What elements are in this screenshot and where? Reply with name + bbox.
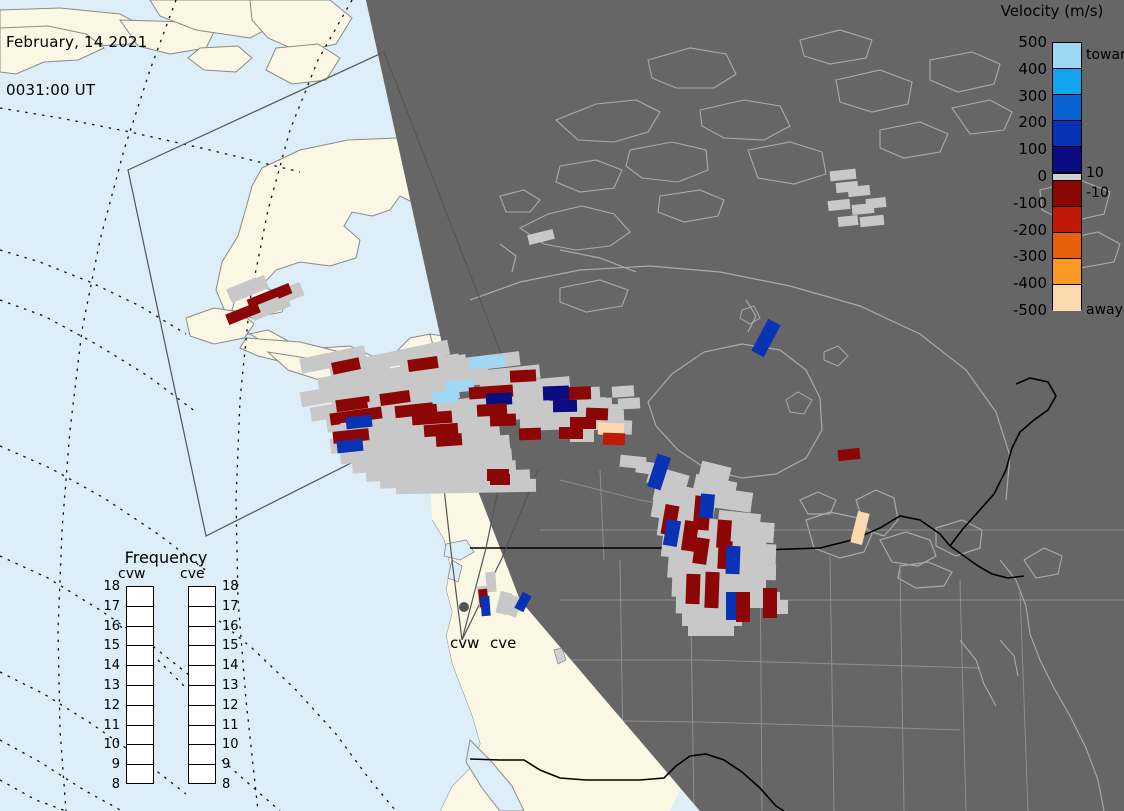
colorbar-tick-100: 100 bbox=[1018, 142, 1047, 157]
colorbar-tick--400: -400 bbox=[1013, 276, 1047, 291]
time-label: 0031:00 UT bbox=[6, 82, 147, 98]
frequency-tick-cve-15: 15 bbox=[222, 639, 244, 652]
colorbar-band-2 bbox=[1053, 95, 1081, 121]
frequency-tick-cvw-16: 16 bbox=[98, 620, 120, 633]
frequency-gauge-cell bbox=[189, 686, 215, 706]
site-label-cve: cve bbox=[490, 634, 516, 652]
frequency-tick-cvw-8: 8 bbox=[98, 778, 120, 791]
frequency-gauge-cell bbox=[189, 765, 215, 785]
frequency-tick-cve-18: 18 bbox=[222, 580, 244, 593]
velocity-cell bbox=[837, 448, 860, 461]
velocity-colorbar bbox=[1052, 42, 1082, 310]
velocity-cell bbox=[480, 596, 490, 617]
frequency-tick-cve-12: 12 bbox=[222, 699, 244, 712]
velocity-cell bbox=[543, 386, 569, 401]
frequency-gauge-cell bbox=[127, 745, 153, 765]
colorbar-tick-200: 200 bbox=[1018, 115, 1047, 130]
velocity-cell bbox=[586, 408, 608, 421]
colorbar-gs-upper-label: 10 bbox=[1086, 166, 1104, 180]
frequency-tick-cvw-13: 13 bbox=[98, 679, 120, 692]
velocity-cell bbox=[699, 493, 715, 518]
velocity-cell bbox=[553, 400, 577, 412]
velocity-cell bbox=[469, 355, 506, 369]
frequency-gauge-cell bbox=[127, 607, 153, 627]
velocity-cell bbox=[436, 433, 463, 447]
frequency-tick-cvw-11: 11 bbox=[98, 719, 120, 732]
frequency-tick-cve-9: 9 bbox=[222, 758, 244, 771]
velocity-cell bbox=[490, 414, 516, 427]
frequency-gauge-name-cve: cve bbox=[180, 566, 205, 582]
colorbar-band-3 bbox=[1053, 121, 1081, 147]
colorbar-band-9 bbox=[1053, 259, 1081, 285]
velocity-cell bbox=[763, 588, 777, 618]
frequency-gauge-cell bbox=[127, 666, 153, 686]
frequency-gauge-cell bbox=[127, 646, 153, 666]
colorbar-tick--200: -200 bbox=[1013, 223, 1047, 238]
frequency-gauge-cell bbox=[189, 745, 215, 765]
colorbar-band-7 bbox=[1053, 207, 1081, 233]
frequency-gauge-name-cvw: cvw bbox=[118, 566, 145, 582]
frequency-gauge-cell bbox=[127, 686, 153, 706]
colorbar-tick-300: 300 bbox=[1018, 89, 1047, 104]
frequency-gauge-cell bbox=[127, 706, 153, 726]
frequency-gauge-cell bbox=[189, 666, 215, 686]
frequency-gauge-cell bbox=[127, 587, 153, 607]
frequency-gauge-cell bbox=[189, 627, 215, 647]
ground-scatter-cell bbox=[838, 215, 859, 227]
ground-scatter-cell bbox=[612, 385, 635, 398]
colorbar-tick--100: -100 bbox=[1013, 196, 1047, 211]
colorbar-tick-400: 400 bbox=[1018, 62, 1047, 77]
frequency-tick-cvw-12: 12 bbox=[98, 699, 120, 712]
velocity-cell bbox=[603, 433, 625, 446]
frequency-tick-cve-17: 17 bbox=[222, 600, 244, 613]
frequency-gauge-cell bbox=[189, 706, 215, 726]
colorbar-band-6 bbox=[1053, 181, 1081, 207]
colorbar-toward-label: toward bbox=[1086, 48, 1124, 62]
velocity-cell bbox=[685, 574, 700, 604]
colorbar-tick--300: -300 bbox=[1013, 249, 1047, 264]
velocity-cell bbox=[704, 572, 719, 608]
frequency-tick-cve-13: 13 bbox=[222, 679, 244, 692]
velocity-cell bbox=[519, 428, 541, 441]
frequency-gauge-cve bbox=[188, 586, 216, 784]
frequency-gauge-cell bbox=[189, 587, 215, 607]
velocity-cell bbox=[726, 546, 741, 574]
frequency-gauge-cell bbox=[189, 607, 215, 627]
colorbar-band-5 bbox=[1053, 173, 1081, 181]
superdarn-map-view: February, 14 2021 0031:00 UT Velocity (m… bbox=[0, 0, 1124, 811]
timestamp-block: February, 14 2021 0031:00 UT bbox=[6, 2, 147, 130]
colorbar-tick-0: 0 bbox=[1037, 169, 1047, 184]
velocity-cell bbox=[510, 369, 537, 382]
colorbar-band-8 bbox=[1053, 233, 1081, 259]
frequency-tick-cvw-9: 9 bbox=[98, 758, 120, 771]
colorbar-gs-lower-label: -10 bbox=[1086, 186, 1109, 200]
colorbar-tick--500: -500 bbox=[1013, 303, 1047, 318]
frequency-tick-cvw-17: 17 bbox=[98, 600, 120, 613]
velocity-cell bbox=[432, 390, 459, 404]
frequency-tick-cve-14: 14 bbox=[222, 659, 244, 672]
colorbar-band-0 bbox=[1053, 43, 1081, 69]
frequency-tick-cvw-15: 15 bbox=[98, 639, 120, 652]
frequency-gauge-cell bbox=[189, 726, 215, 746]
frequency-tick-cve-16: 16 bbox=[222, 620, 244, 633]
colorbar-side-labels: toward10-10away bbox=[1086, 0, 1124, 360]
colorbar-band-1 bbox=[1053, 69, 1081, 95]
frequency-title: Frequency bbox=[96, 548, 236, 567]
colorbar-tick-labels: 5004003002001000-100-200-300-400-500 bbox=[995, 0, 1047, 360]
colorbar-band-10 bbox=[1053, 285, 1081, 311]
frequency-gauge-cell bbox=[189, 646, 215, 666]
frequency-tick-cve-10: 10 bbox=[222, 738, 244, 751]
frequency-legend: Frequency cvw18171615141312111098cve1817… bbox=[96, 548, 236, 788]
frequency-gauge-cell bbox=[127, 627, 153, 647]
date-label: February, 14 2021 bbox=[6, 34, 147, 50]
frequency-tick-cve-8: 8 bbox=[222, 778, 244, 791]
frequency-tick-cve-11: 11 bbox=[222, 719, 244, 732]
velocity-cell bbox=[490, 474, 510, 485]
frequency-tick-cvw-14: 14 bbox=[98, 659, 120, 672]
frequency-tick-cvw-10: 10 bbox=[98, 738, 120, 751]
site-label-cvw: cvw bbox=[450, 634, 479, 652]
velocity-cell bbox=[559, 427, 583, 439]
colorbar-tick-500: 500 bbox=[1018, 35, 1047, 50]
velocity-cell bbox=[736, 592, 750, 622]
frequency-gauge-cell bbox=[127, 726, 153, 746]
colorbar-away-label: away bbox=[1086, 303, 1123, 317]
frequency-tick-cvw-18: 18 bbox=[98, 580, 120, 593]
frequency-gauge-cell bbox=[127, 765, 153, 785]
frequency-gauge-cvw bbox=[126, 586, 154, 784]
colorbar-band-4 bbox=[1053, 147, 1081, 173]
